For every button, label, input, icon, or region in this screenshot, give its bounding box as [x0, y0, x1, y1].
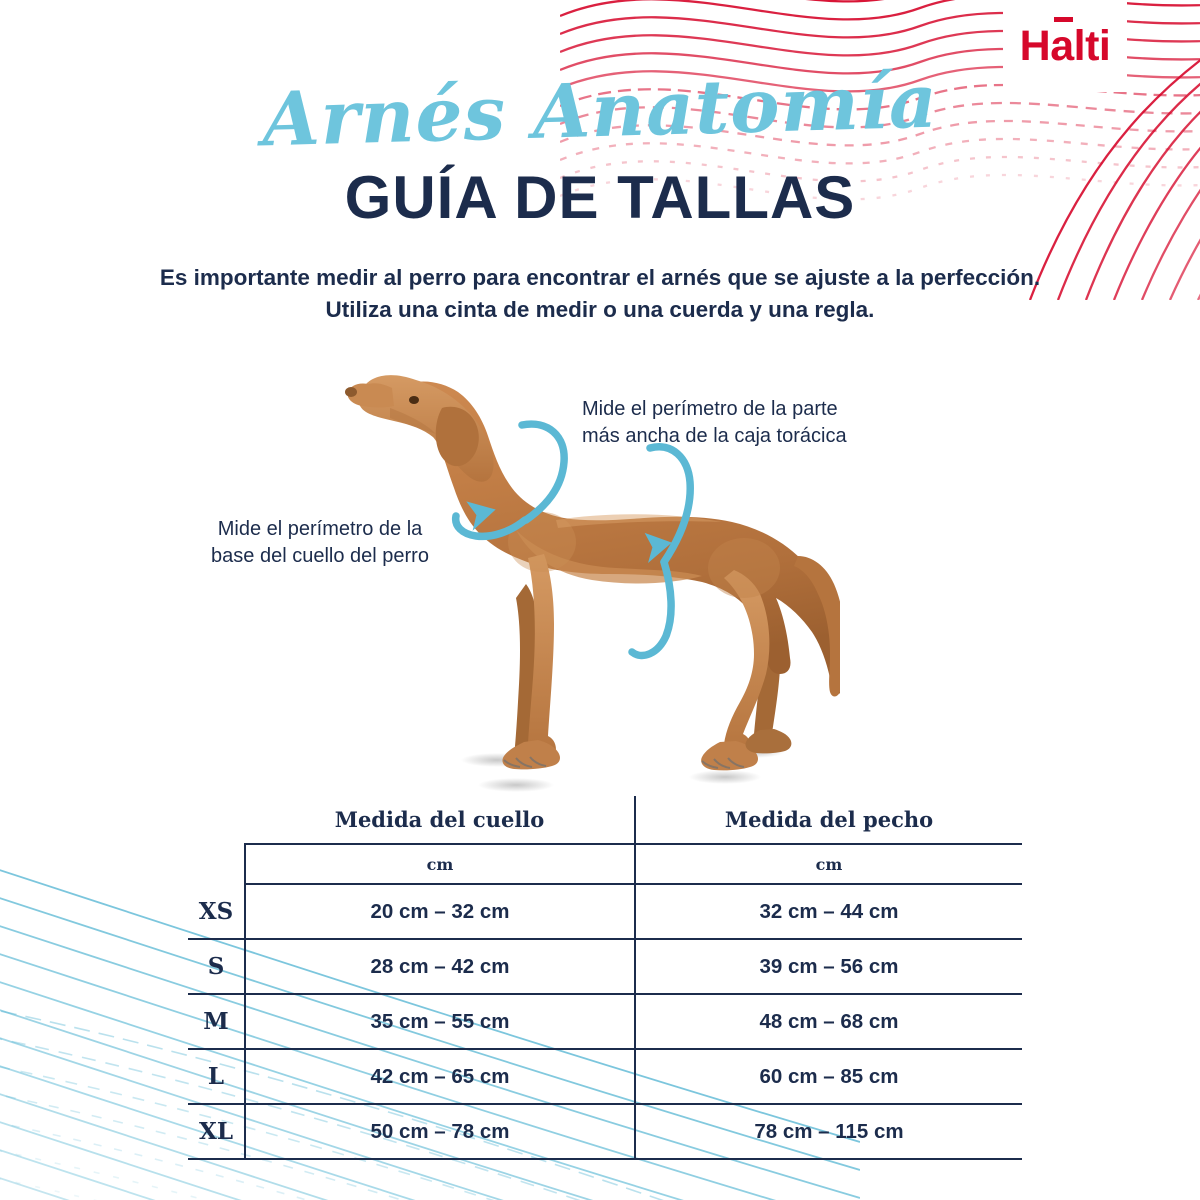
row-neck-xl: 50 cm – 78 cm	[245, 1104, 635, 1159]
page-title: GUÍA DE TALLAS	[0, 168, 1200, 228]
row-chest-xl: 78 cm – 115 cm	[635, 1104, 1022, 1159]
table-group-header-row: Medida del cuello Medida del pecho	[188, 796, 1022, 844]
unit-header-spacer	[188, 844, 245, 884]
subtitle-line-2: Utiliza una cinta de medir o una cuerda …	[100, 294, 1100, 326]
table-row: XL 50 cm – 78 cm 78 cm – 115 cm	[188, 1104, 1022, 1159]
row-neck-xs: 20 cm – 32 cm	[245, 884, 635, 939]
unit-header-chest: cm	[635, 844, 1022, 884]
table-unit-header-row: cm cm	[188, 844, 1022, 884]
script-title: Arnés Anatomía	[0, 57, 1200, 164]
row-neck-s: 28 cm – 42 cm	[245, 939, 635, 994]
dog-image	[320, 330, 840, 800]
row-chest-xs: 32 cm – 44 cm	[635, 884, 1022, 939]
group-header-neck: Medida del cuello	[245, 796, 635, 844]
row-chest-m: 48 cm – 68 cm	[635, 994, 1022, 1049]
table-row: XS 20 cm – 32 cm 32 cm – 44 cm	[188, 884, 1022, 939]
unit-header-neck: cm	[245, 844, 635, 884]
group-header-chest: Medida del pecho	[635, 796, 1022, 844]
row-chest-s: 39 cm – 56 cm	[635, 939, 1022, 994]
row-chest-l: 60 cm – 85 cm	[635, 1049, 1022, 1104]
subtitle-line-1: Es importante medir al perro para encont…	[100, 262, 1100, 294]
table-row: L 42 cm – 65 cm 60 cm – 85 cm	[188, 1049, 1022, 1104]
subtitle: Es importante medir al perro para encont…	[100, 262, 1100, 326]
row-size-m: M	[188, 994, 245, 1049]
size-table: Medida del cuello Medida del pecho cm cm…	[188, 796, 1022, 1160]
row-size-l: L	[188, 1049, 245, 1104]
row-size-s: S	[188, 939, 245, 994]
table-row: M 35 cm – 55 cm 48 cm – 68 cm	[188, 994, 1022, 1049]
row-size-xs: XS	[188, 884, 245, 939]
row-neck-m: 35 cm – 55 cm	[245, 994, 635, 1049]
halti-logo-strike	[1054, 17, 1073, 22]
dog-illustration	[320, 330, 840, 800]
table-row: S 28 cm – 42 cm 39 cm – 56 cm	[188, 939, 1022, 994]
size-guide-page: Halti Arnés Anatomía GUÍA DE TALLAS Es i…	[0, 0, 1200, 1200]
row-size-xl: XL	[188, 1104, 245, 1159]
row-neck-l: 42 cm – 65 cm	[245, 1049, 635, 1104]
group-header-spacer	[188, 796, 245, 844]
